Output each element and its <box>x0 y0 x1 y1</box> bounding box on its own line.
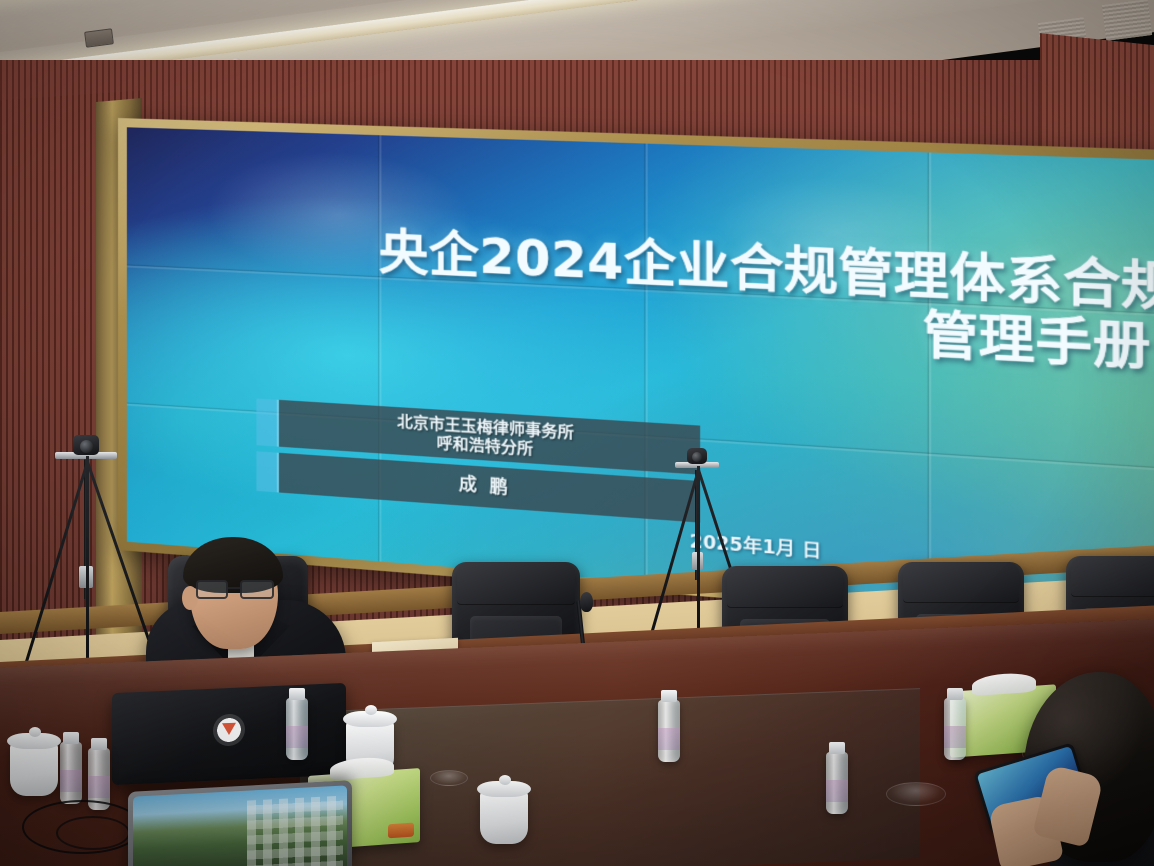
bottle-cap <box>63 732 79 744</box>
laptop-desktop-icons <box>247 796 343 866</box>
glasses-bridge <box>228 587 240 589</box>
ceiling-grille-icon <box>1102 0 1152 41</box>
teacup-knob <box>499 775 511 785</box>
bottle-cap <box>661 690 677 702</box>
table-puck-outlet[interactable] <box>886 782 946 806</box>
tissue-brand-mark <box>388 823 414 839</box>
laptop-logo-icon <box>213 713 245 746</box>
teacup[interactable] <box>10 742 58 796</box>
bottle-label <box>60 770 82 792</box>
water-bottle[interactable] <box>826 752 848 814</box>
presentation-slide: 央企2024企业合规管理体系合规 管理手册 北京市王玉梅律师事务所 呼和浩特分所… <box>127 127 1154 628</box>
byline-accent-tab <box>256 398 278 447</box>
water-bottle[interactable] <box>286 698 308 760</box>
camera-lens-icon <box>692 452 702 462</box>
video-wall-display[interactable]: 央企2024企业合规管理体系合规 管理手册 北京市王玉梅律师事务所 呼和浩特分所… <box>127 127 1154 628</box>
glasses-lens-right <box>240 580 274 599</box>
bottle-label <box>286 726 308 748</box>
table-puck-outlet[interactable] <box>430 770 468 786</box>
slide-title: 央企2024企业合规管理体系合规 管理手册 <box>166 216 1154 378</box>
byline-accent-tab <box>256 452 278 493</box>
slide-byline-block: 北京市王玉梅律师事务所 呼和浩特分所 成 鹏 <box>256 398 701 529</box>
glasses-lens-left <box>196 580 228 599</box>
bottle-label <box>658 728 680 750</box>
bottle-label <box>88 776 110 798</box>
laptop-closed-lid[interactable] <box>112 683 346 785</box>
bottle-cap <box>947 688 963 700</box>
cable-coil <box>56 816 130 850</box>
conference-room-scene: 央企2024企业合规管理体系合规 管理手册 北京市王玉梅律师事务所 呼和浩特分所… <box>0 0 1154 866</box>
bottle-cap <box>289 688 305 700</box>
teacup-knob <box>29 727 41 737</box>
chair-headrest <box>1071 556 1154 597</box>
bottle-label <box>944 726 966 748</box>
teacup[interactable] <box>480 790 528 844</box>
mic-head-icon <box>580 592 593 612</box>
chair-headrest <box>903 562 1019 603</box>
teacup-knob <box>365 705 377 715</box>
bottle-label <box>826 780 848 802</box>
water-bottle[interactable] <box>944 698 966 760</box>
chair-headrest <box>457 562 575 605</box>
bottle-cap <box>829 742 845 754</box>
camera-lens-icon <box>80 440 93 453</box>
water-bottle[interactable] <box>60 742 82 804</box>
bottle-cap <box>91 738 107 750</box>
laptop-screen[interactable] <box>133 785 347 866</box>
glasses-icon <box>196 580 276 600</box>
chair-headrest <box>727 566 843 608</box>
laptop-open[interactable] <box>128 780 352 866</box>
water-bottle[interactable] <box>658 700 680 762</box>
